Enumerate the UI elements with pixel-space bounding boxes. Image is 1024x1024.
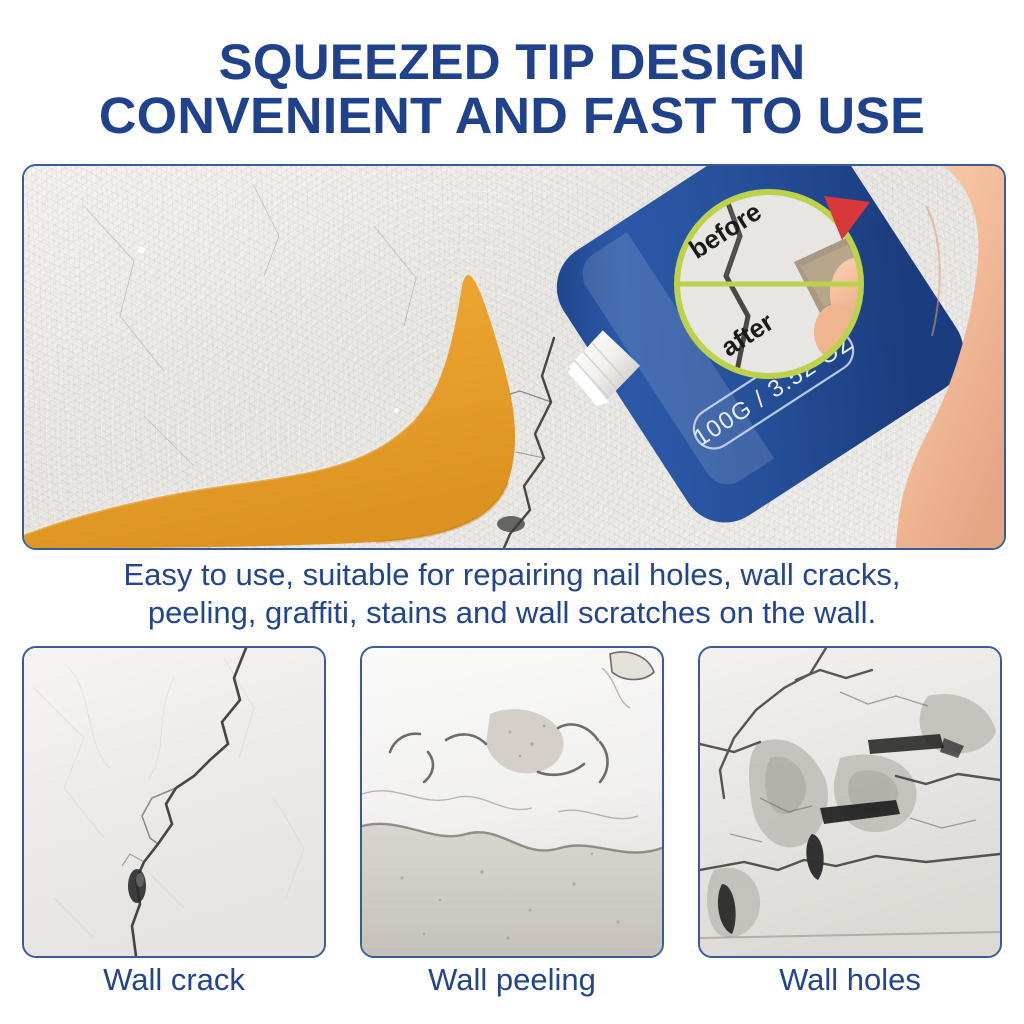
title-line-1: SQUEEZED TIP DESIGN <box>0 36 1024 89</box>
damage-type-gallery <box>22 646 1002 956</box>
description-text: Easy to use, suitable for repairing nail… <box>0 556 1024 632</box>
crack-hole <box>497 516 525 532</box>
caption-wall-holes: Wall holes <box>698 962 1002 998</box>
thumbnail-wall-holes[interactable] <box>698 646 1002 958</box>
thumbnail-wall-peeling[interactable] <box>360 646 664 958</box>
hero-artwork: 100G / 3.52 OZ <box>24 166 1004 548</box>
thumbnail-captions: Wall crack Wall peeling Wall holes <box>22 962 1002 998</box>
page-title: SQUEEZED TIP DESIGN CONVENIENT AND FAST … <box>0 36 1024 142</box>
caption-wall-crack: Wall crack <box>22 962 326 998</box>
thumbnail-wall-crack[interactable] <box>22 646 326 958</box>
wall-holes-image <box>700 648 1000 956</box>
caption-wall-peeling: Wall peeling <box>360 962 664 998</box>
description-line-1: Easy to use, suitable for repairing nail… <box>0 556 1024 594</box>
title-line-2: CONVENIENT AND FAST TO USE <box>0 89 1024 142</box>
hero-image-panel: 100G / 3.52 OZ <box>22 164 1006 550</box>
wall-peeling-image <box>362 648 662 956</box>
wall-crack-image <box>24 648 324 956</box>
description-line-2: peeling, graffiti, stains and wall scrat… <box>0 594 1024 632</box>
